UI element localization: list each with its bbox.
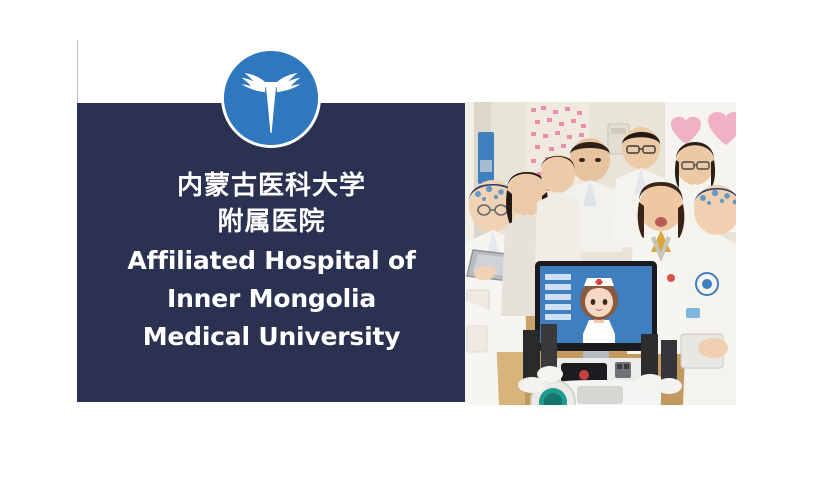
hospital-name-en-line3: Medical University: [77, 320, 466, 354]
person-third-left: [535, 155, 581, 262]
clipboard-and-hand: [681, 334, 728, 368]
hospital-name-en-line2: Inner Mongolia: [77, 282, 466, 316]
hospital-name-cn-line1: 内蒙古医科大学: [77, 168, 466, 204]
slide-canvas: 内蒙古医科大学 附属医院 Affiliated Hospital of Inne…: [0, 0, 813, 484]
nurse-avatar: [580, 278, 618, 343]
vertical-divider-rule: [77, 40, 78, 104]
hospital-name-cn-line2: 附属医院: [77, 204, 466, 240]
hospital-logo-badge: [224, 51, 318, 145]
photo-illustration: [465, 102, 736, 405]
hospital-wings-spire-logo-icon: [224, 51, 318, 145]
hospital-name-block: 内蒙古医科大学 附属医院 Affiliated Hospital of Inne…: [77, 168, 466, 354]
hospital-robot-photo: [465, 102, 736, 405]
hospital-name-en-line1: Affiliated Hospital of: [77, 244, 466, 278]
